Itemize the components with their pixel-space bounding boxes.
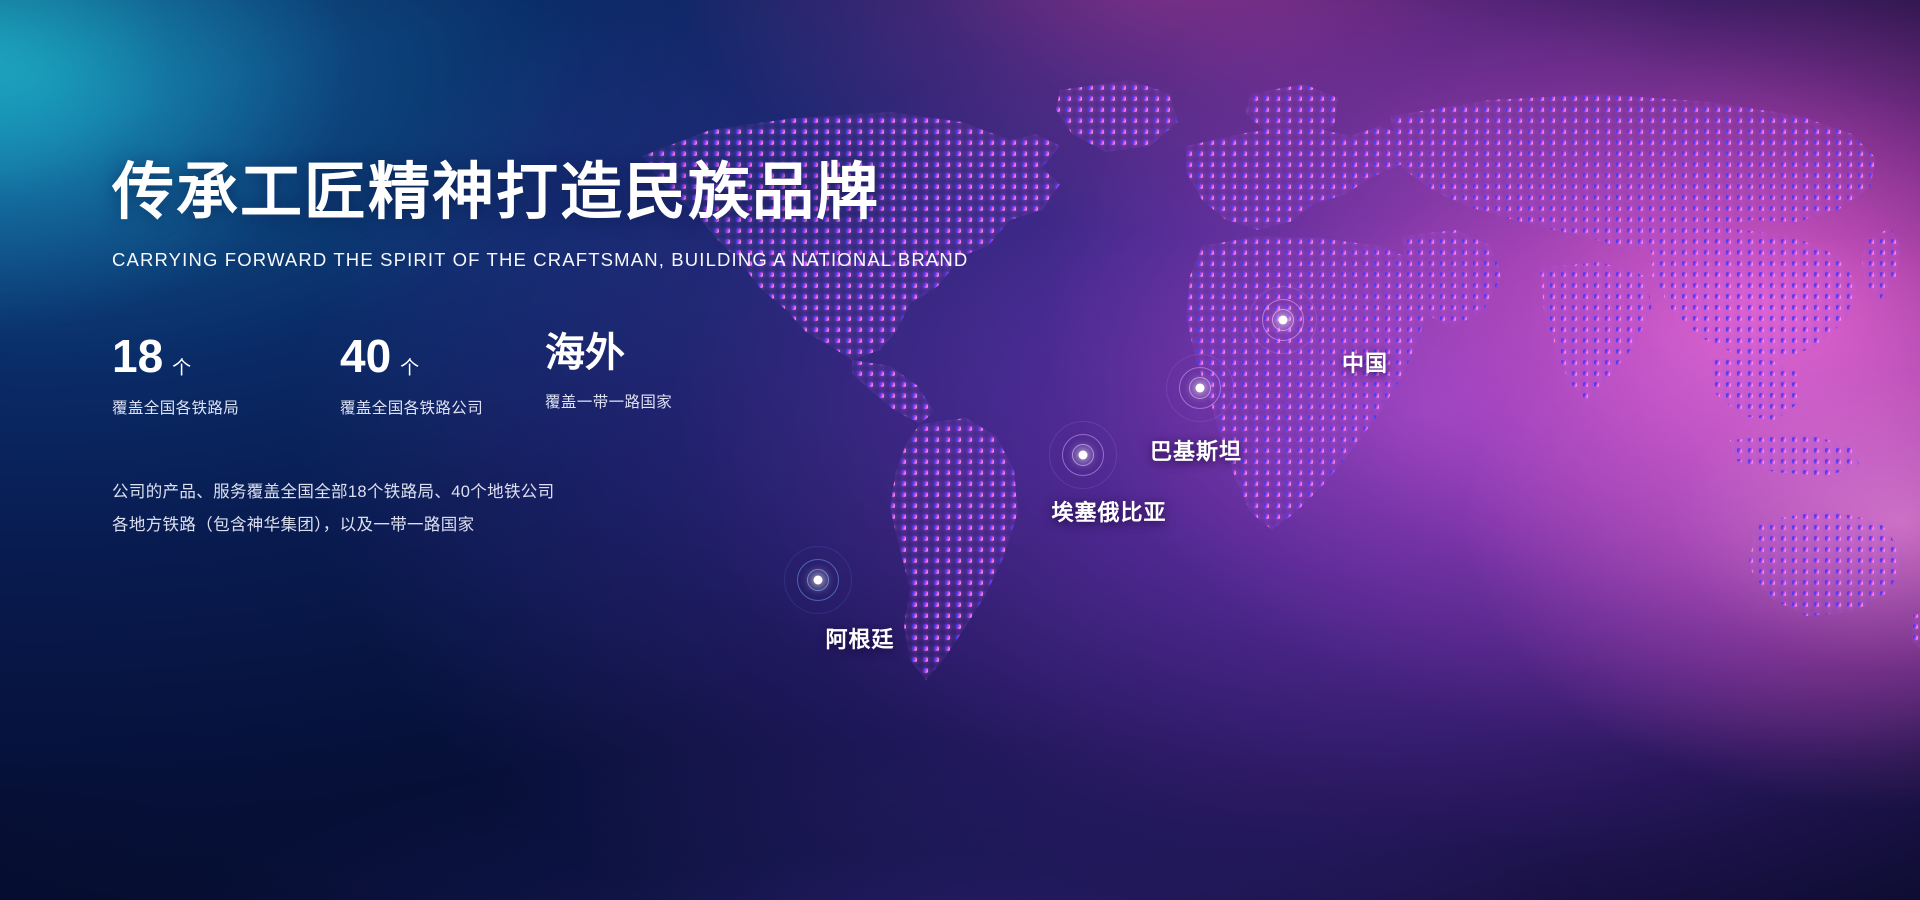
marker-core-dot [1079,451,1088,460]
stat-item-railway-bureaus: 18 个 覆盖全国各铁路局 [112,333,340,418]
banner-content: 传承工匠精神打造民族品牌 CARRYING FORWARD THE SPIRIT… [112,160,932,542]
banner-headline: 传承工匠精神打造民族品牌 [112,160,932,227]
stat-item-overseas: 海外 覆盖一带一路国家 [545,333,765,412]
map-marker-label-argentina: 阿根廷 [825,622,894,654]
stat-value: 18 [112,333,163,379]
marker-core-dot [814,576,823,585]
stat-label: 覆盖一带一路国家 [545,390,765,412]
statistics-group: 18 个 覆盖全国各铁路局 40 个 覆盖全国各铁路公司 海外 覆盖一带一路国家 [112,333,932,418]
stat-item-railway-companies: 40 个 覆盖全国各铁路公司 [340,333,545,418]
body-copy-line-1: 公司的产品、服务覆盖全国全部18个铁路局、40个地铁公司 [112,476,932,509]
marker-core-dot [1196,384,1205,393]
stat-value-row: 海外 [545,333,765,373]
stat-value-row: 18 个 [112,333,340,379]
map-marker-label-pakistan: 巴基斯坦 [1150,434,1242,466]
body-copy-line-2: 各地方铁路（包含神华集团），以及一带一路国家 [112,509,932,542]
stat-value: 40 [340,333,391,379]
banner-stage: 中国 巴基斯坦 埃塞俄比亚 阿根廷 传承工匠精神打造民族品牌 CARRYING [0,0,1920,900]
marker-core-dot [1279,316,1288,325]
map-marker-label-ethiopia: 埃塞俄比亚 [1051,495,1166,527]
stat-unit: 个 [400,353,419,380]
banner-subheadline: CARRYING FORWARD THE SPIRIT OF THE CRAFT… [112,249,932,271]
stat-label: 覆盖全国各铁路公司 [340,396,545,418]
stat-value: 海外 [545,333,625,373]
banner-body-copy: 公司的产品、服务覆盖全国全部18个铁路局、40个地铁公司 各地方铁路（包含神华集… [112,476,932,542]
stat-value-row: 40 个 [340,333,545,379]
stat-label: 覆盖全国各铁路局 [112,396,340,418]
stat-unit: 个 [172,353,191,380]
map-marker-label-china: 中国 [1342,346,1388,378]
